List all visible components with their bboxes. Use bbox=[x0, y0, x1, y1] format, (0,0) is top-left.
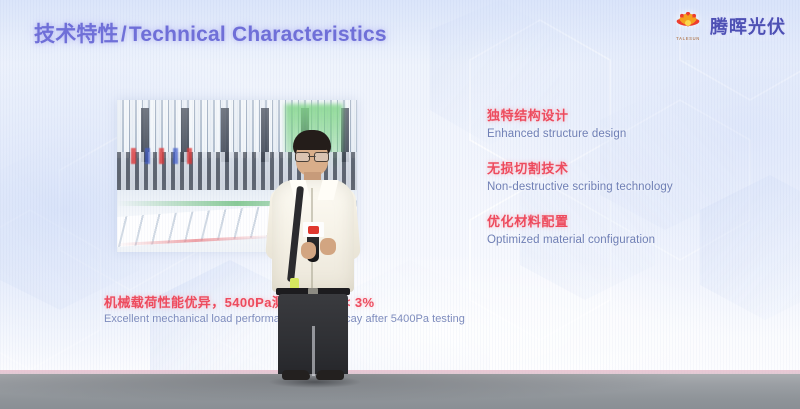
feature-title-chinese: 优化材料配置 bbox=[487, 211, 737, 230]
feature-title-chinese: 无损切割技术 bbox=[487, 158, 737, 177]
slide-title-separator: / bbox=[119, 23, 129, 46]
feature-title-english: Enhanced structure design bbox=[487, 128, 737, 140]
presentation-screen: 技术特性/Technical Characteristics bbox=[0, 0, 800, 374]
feature-title-english: Optimized material configuration bbox=[487, 234, 737, 246]
brand-logo: TALESUN 腾晖光伏 bbox=[673, 12, 786, 40]
sunflower-icon: TALESUN bbox=[673, 12, 703, 40]
glasses-icon bbox=[295, 152, 329, 160]
presenter bbox=[262, 130, 366, 392]
feature-title-english: Non-destructive scribing technology bbox=[487, 181, 737, 193]
feature-item: 优化材料配置 Optimized material configuration bbox=[487, 211, 737, 246]
slide-title-english: Technical Characteristics bbox=[129, 23, 387, 46]
video-frame: 技术特性/Technical Characteristics bbox=[0, 0, 800, 409]
slide-title: 技术特性/Technical Characteristics bbox=[34, 18, 387, 48]
logo-wordmark-chinese: 腾晖光伏 bbox=[710, 13, 786, 39]
feature-item: 独特结构设计 Enhanced structure design bbox=[487, 105, 737, 140]
stage-floor bbox=[0, 374, 800, 409]
microphone-flag bbox=[303, 222, 324, 237]
logo-wordmark-english: TALESUN bbox=[673, 36, 703, 41]
feature-bullet-list: 独特结构设计 Enhanced structure design 无损切割技术 … bbox=[487, 105, 737, 264]
feature-title-chinese: 独特结构设计 bbox=[487, 105, 737, 124]
slide-title-chinese: 技术特性 bbox=[34, 23, 119, 46]
feature-item: 无损切割技术 Non-destructive scribing technolo… bbox=[487, 158, 737, 193]
